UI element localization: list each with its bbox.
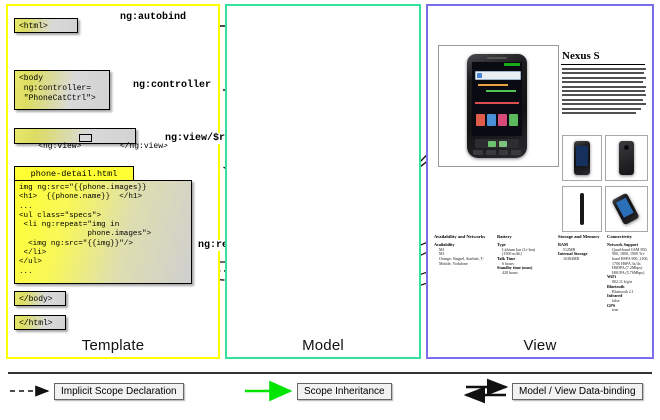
legend-glyph-databinding bbox=[466, 387, 506, 395]
sticky-note-phone-detail: phone-detail.html img ng:src="{{phone.im… bbox=[14, 166, 192, 284]
diagram-root: Root Scope PhoneCatCtrl Scope params: Ob… bbox=[0, 0, 660, 420]
product-title-rule bbox=[561, 64, 645, 65]
app-icon-gmail bbox=[487, 114, 496, 126]
code-body-controller: <body ng:controller= "PhoneCatCtrl"> bbox=[14, 70, 110, 110]
code-html-open-tag: <html> bbox=[14, 18, 78, 33]
thumb2-camera-icon bbox=[624, 145, 629, 150]
code-ng-view-text: <ng:view> </ng:view> bbox=[38, 142, 168, 151]
spec-value-gps-0: true bbox=[607, 308, 651, 313]
dock-icon-apps bbox=[499, 141, 507, 147]
softkey-home bbox=[499, 150, 509, 155]
ng-view-placeholder-rect bbox=[79, 134, 92, 142]
thumb1-screen bbox=[576, 146, 588, 166]
spec-value-network-support-0: Quad-band GSM 850, 900, 1800, 1900 Tri-b… bbox=[607, 248, 651, 276]
softkey-search bbox=[511, 150, 521, 155]
phone-screen bbox=[472, 62, 522, 136]
spec-heading-availability: Availability and Networks bbox=[434, 234, 492, 239]
spec-value-availability-2: Orange, Singtel, Starhub, T-Mobile, Voda… bbox=[434, 257, 492, 266]
panel-template-label: Template bbox=[8, 337, 218, 354]
search-icon bbox=[477, 73, 482, 78]
dock-icon-phone bbox=[488, 141, 496, 147]
phone-soft-keys bbox=[473, 150, 521, 155]
spec-value-internal-storage-0: 16384MB bbox=[558, 257, 610, 262]
softkey-back bbox=[473, 150, 483, 155]
spec-column-battery: Battery Type Lithium Ion (Li-Ion) (1500 … bbox=[497, 234, 553, 276]
wallpaper-streak-1 bbox=[478, 84, 508, 86]
panel-view-label: View bbox=[428, 337, 652, 354]
app-icon-row bbox=[476, 114, 518, 126]
legend-item-scope-inheritance: Scope Inheritance bbox=[297, 383, 392, 400]
phone-earpiece bbox=[487, 57, 507, 59]
sticky-note-code: img ng:src="{{phone.images}} <h1> {{phon… bbox=[14, 180, 192, 284]
sticky-note-filename: phone-detail.html bbox=[14, 166, 134, 181]
thumb2-phone bbox=[619, 141, 634, 175]
thumbnail-phone-front[interactable] bbox=[562, 135, 602, 181]
thumb4-phone bbox=[611, 193, 639, 226]
phone-hero-image bbox=[438, 45, 559, 167]
spec-column-storage: Storage and Memory RAM 512MB Internal St… bbox=[558, 234, 610, 262]
label-ng-autobind: ng:autobind bbox=[118, 12, 188, 23]
spec-value-battery-standby-0: 428 hours bbox=[497, 271, 553, 276]
app-icon-market bbox=[476, 114, 485, 126]
spec-column-availability: Availability and Networks Availability M… bbox=[434, 234, 492, 266]
search-widget bbox=[475, 71, 521, 80]
app-icon-browser bbox=[509, 114, 518, 126]
code-body-close-tag: </body> bbox=[14, 291, 66, 306]
product-description: Nexus S is the next generation of Nexus … bbox=[562, 68, 646, 128]
spec-heading-connectivity: Connectivity bbox=[607, 234, 651, 239]
panel-model: Model bbox=[225, 4, 421, 359]
legend-item-model-view-data-binding: Model / View Data-binding bbox=[512, 383, 643, 400]
spec-column-connectivity: Connectivity Network Support Quad-band G… bbox=[607, 234, 651, 313]
thumbnail-phone-back[interactable] bbox=[605, 135, 648, 181]
panel-model-label: Model bbox=[227, 337, 419, 354]
phone-dock bbox=[475, 139, 519, 148]
spec-heading-battery: Battery bbox=[497, 234, 553, 239]
product-title: Nexus S bbox=[562, 50, 600, 62]
spec-heading-storage: Storage and Memory bbox=[558, 234, 610, 239]
thumb4-screen bbox=[616, 198, 634, 218]
thumbnail-phone-angled[interactable] bbox=[605, 186, 648, 232]
code-ng-view: <ng:view> </ng:view> bbox=[14, 128, 136, 144]
thumb3-phone-edge bbox=[580, 193, 584, 225]
code-html-close-tag: </html> bbox=[14, 315, 66, 330]
thumbnail-phone-side[interactable] bbox=[562, 186, 602, 232]
wallpaper-streak-3 bbox=[475, 102, 519, 104]
label-ng-controller: ng:controller bbox=[131, 80, 213, 91]
legend-divider bbox=[8, 372, 652, 374]
legend-item-implicit-scope-declaration: Implicit Scope Declaration bbox=[54, 383, 184, 400]
softkey-menu bbox=[486, 150, 496, 155]
wallpaper-streak-2 bbox=[486, 90, 516, 92]
phone-chassis bbox=[467, 54, 527, 158]
status-bar-indicator bbox=[504, 63, 520, 66]
thumb1-phone bbox=[574, 141, 590, 175]
app-icon-youtube bbox=[498, 114, 507, 126]
